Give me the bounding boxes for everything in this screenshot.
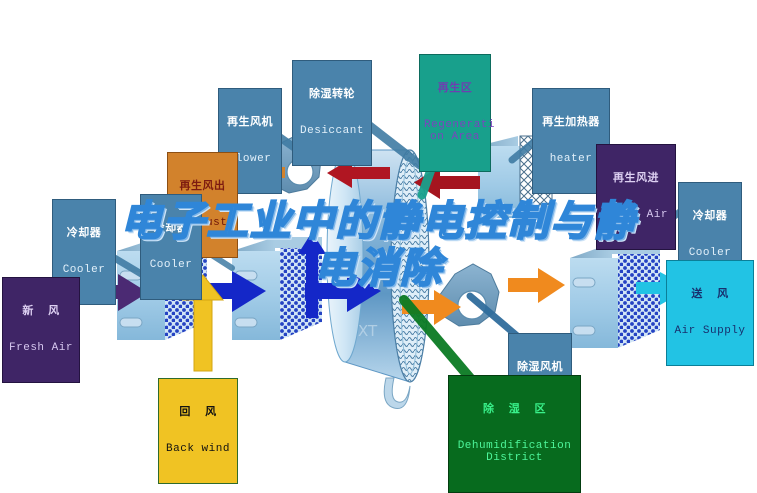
label-regeneration-area[interactable]: 再生区 Regenerati on Area <box>419 54 491 172</box>
label-cooler-mid[interactable]: 冷却器 Cooler <box>140 194 202 300</box>
label-en: Desiccant <box>297 125 367 137</box>
desiccant-rotor-wheel: XT <box>327 150 429 409</box>
label-cn: 冷却器 <box>145 222 197 234</box>
label-cn: 除 湿 区 <box>453 403 576 415</box>
label-cn: 再生区 <box>424 82 486 94</box>
rotor-watermark: XT <box>358 322 378 340</box>
label-en: Air Supply <box>671 325 749 337</box>
label-cn: 送 风 <box>671 288 749 300</box>
label-en: Cooler <box>57 264 111 276</box>
label-desiccant-wheel[interactable]: 除湿转轮 Desiccant <box>292 60 372 166</box>
label-cn: 新 风 <box>7 305 75 317</box>
label-en: heater <box>537 153 605 165</box>
diagram-canvas: XT <box>0 0 757 488</box>
label-dehum-district[interactable]: 除 湿 区 Dehumidification District <box>448 375 581 493</box>
label-regen-fresh-air[interactable]: 再生风进 Fresh Air <box>596 144 676 250</box>
label-cn: 除湿风机 <box>513 361 567 373</box>
label-cn: 冷却器 <box>683 210 737 222</box>
label-en: Fresh Air <box>601 209 671 221</box>
label-back-wind[interactable]: 回 风 Back wind <box>158 378 238 484</box>
label-cn: 再生风机 <box>223 116 277 128</box>
label-cn: 冷却器 <box>57 227 111 239</box>
dry-air-arrow-2 <box>508 268 565 303</box>
label-cn: 再生风出 <box>172 180 233 192</box>
label-cn: 再生风进 <box>601 172 671 184</box>
label-cn: 回 风 <box>163 406 233 418</box>
label-en: Dehumidification District <box>453 440 576 465</box>
label-air-supply[interactable]: 送 风 Air Supply <box>666 260 754 366</box>
label-en: Fresh Air <box>7 342 75 354</box>
label-en: Regenerati on Area <box>424 119 486 144</box>
label-process-fresh-air[interactable]: 新 风 Fresh Air <box>2 277 80 383</box>
supply-coil-unit <box>570 243 660 348</box>
label-cn: 除湿转轮 <box>297 88 367 100</box>
label-en: Back wind <box>163 443 233 455</box>
label-cn: 再生加热器 <box>537 116 605 128</box>
label-en: Cooler <box>145 259 197 271</box>
label-en: Cooler <box>683 247 737 259</box>
